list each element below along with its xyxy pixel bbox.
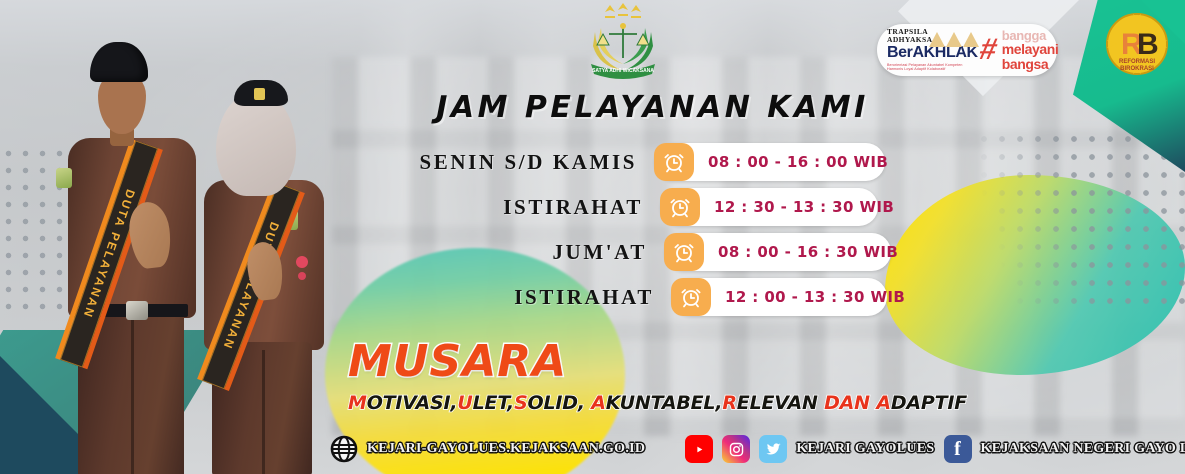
motto-tagline-part: ELEVAN — [737, 392, 824, 414]
berakhlak-badge: TRAPSILA ADHYAKSA BerAKHLAK Berorientasi… — [877, 24, 1057, 76]
schedule-time-pill: 08 : 00 - 16 : 30 WIB — [665, 233, 891, 271]
dot-grid-right — [975, 130, 1185, 315]
motto-tagline-part: U — [457, 392, 472, 414]
twitter-icon[interactable] — [759, 435, 787, 463]
schedule-time-text: 08 : 00 - 16 : 30 WIB — [704, 243, 898, 261]
schedule-row: ISTIRAHAT 12 : 30 - 13 : 30 WIB — [366, 188, 920, 226]
facebook-f-glyph: f — [954, 439, 961, 459]
motto-tagline-part: OLID, — [528, 392, 592, 414]
schedule-row: SENIN S/D KAMIS 08 : 00 - 16 : 00 WIB — [360, 143, 920, 181]
shoulder-patch-icon — [56, 168, 72, 188]
motto-tagline-part: LET, — [473, 392, 514, 414]
motto-block: MUSARA MOTIVASI,ULET,SOLID, AKUNTABEL,RE… — [348, 340, 967, 414]
reformasi-birokrasi-logo: R B REFORMASI BIROKRASI — [1099, 6, 1175, 82]
service-hours-list: SENIN S/D KAMIS 08 : 00 - 16 : 00 WIB IS… — [360, 143, 920, 323]
youtube-icon[interactable] — [685, 435, 713, 463]
motto-tagline-part: KUNTABEL, — [606, 392, 723, 414]
hashtag-icon: # — [977, 38, 999, 62]
globe-icon — [330, 435, 358, 463]
motto-tagline-part: OTIVASI, — [367, 392, 458, 414]
schedule-row: JUM'AT 08 : 00 - 16 : 30 WIB — [370, 233, 920, 271]
bangga-melayani-bangsa: bangga melayani bangsa — [1002, 29, 1059, 71]
berakhlak-values-text: Berorientasi Pelayanan Akuntabel Kompete… — [887, 63, 975, 73]
alarm-clock-icon — [664, 233, 704, 271]
schedule-time-text: 12 : 00 - 13 : 30 WIB — [711, 288, 905, 306]
facebook-icon[interactable]: f — [944, 435, 972, 463]
officer-female: DUTA PELAYANAN — [178, 80, 348, 474]
name-badge-icon — [296, 256, 308, 268]
schedule-row: ISTIRAHAT 12 : 00 - 13 : 30 WIB — [377, 278, 920, 316]
berakhlak-left: TRAPSILA ADHYAKSA BerAKHLAK Berorientasi… — [887, 28, 975, 72]
motto-tagline-part: DAPTIF — [891, 392, 967, 414]
instagram-icon[interactable] — [722, 435, 750, 463]
motto-tagline-part: S — [514, 392, 527, 414]
schedule-time-text: 12 : 30 - 13 : 30 WIB — [700, 198, 894, 216]
peci-hat-icon — [90, 42, 148, 82]
motto-tagline-part: DAN — [824, 392, 876, 414]
kejaksaan-emblem-icon: SATYA ADHI WICAKSANA — [581, 2, 665, 82]
rb-letter-b: B — [1137, 28, 1159, 61]
motto-title: MUSARA — [348, 340, 967, 384]
bangsa-text: bangsa — [1002, 57, 1059, 71]
website-text[interactable]: KEJARI-GAYOLUES.KEJAKSAAN.GO.ID — [367, 441, 645, 457]
melayani-text: melayani — [1002, 42, 1059, 56]
alarm-clock-icon — [671, 278, 711, 316]
footer-contacts: KEJARI-GAYOLUES.KEJAKSAAN.GO.ID KEJARI G… — [330, 432, 1185, 466]
motto-tagline-part: A — [876, 392, 891, 414]
motto-tagline-part: A — [591, 392, 606, 414]
alarm-clock-icon — [654, 143, 694, 181]
service-hours-banner: DUTA PELAYANAN DUTA PELAYANAN — [0, 0, 1185, 474]
schedule-time-pill: 08 : 00 - 16 : 00 WIB — [655, 143, 885, 181]
rb-line1: REFORMASI — [1119, 59, 1155, 65]
social-handle-text[interactable]: KEJARI GAYOLUES — [796, 441, 934, 457]
bangga-text: bangga — [1002, 29, 1059, 42]
kejaksaan-motto-text: SATYA ADHI WICAKSANA — [592, 68, 654, 74]
facebook-handle-text[interactable]: KEJAKSAAN NEGERI GAYO LUES — [981, 441, 1185, 457]
schedule-time-text: 08 : 00 - 16 : 00 WIB — [694, 153, 888, 171]
schedule-day-label: SENIN S/D KAMIS — [360, 150, 655, 175]
officers-photo: DUTA PELAYANAN DUTA PELAYANAN — [18, 18, 368, 474]
schedule-day-label: ISTIRAHAT — [377, 285, 672, 310]
motto-tagline: MOTIVASI,ULET,SOLID, AKUNTABEL,RELEVAN D… — [348, 392, 967, 414]
berakhlak-wordmark: BerAKHLAK — [887, 45, 975, 61]
schedule-day-label: JUM'AT — [370, 240, 665, 265]
schedule-day-label: ISTIRAHAT — [366, 195, 661, 220]
schedule-time-pill: 12 : 30 - 13 : 30 WIB — [661, 188, 878, 226]
chevron-arrows-icon — [929, 32, 979, 47]
alarm-clock-icon — [660, 188, 700, 226]
motto-tagline-part: M — [348, 392, 367, 414]
motto-tagline-part: R — [722, 392, 736, 414]
schedule-time-pill: 12 : 00 - 13 : 30 WIB — [672, 278, 887, 316]
page-title: JAM PELAYANAN KAMI — [0, 90, 1185, 125]
rb-line2: BIROKRASI — [1120, 66, 1154, 72]
